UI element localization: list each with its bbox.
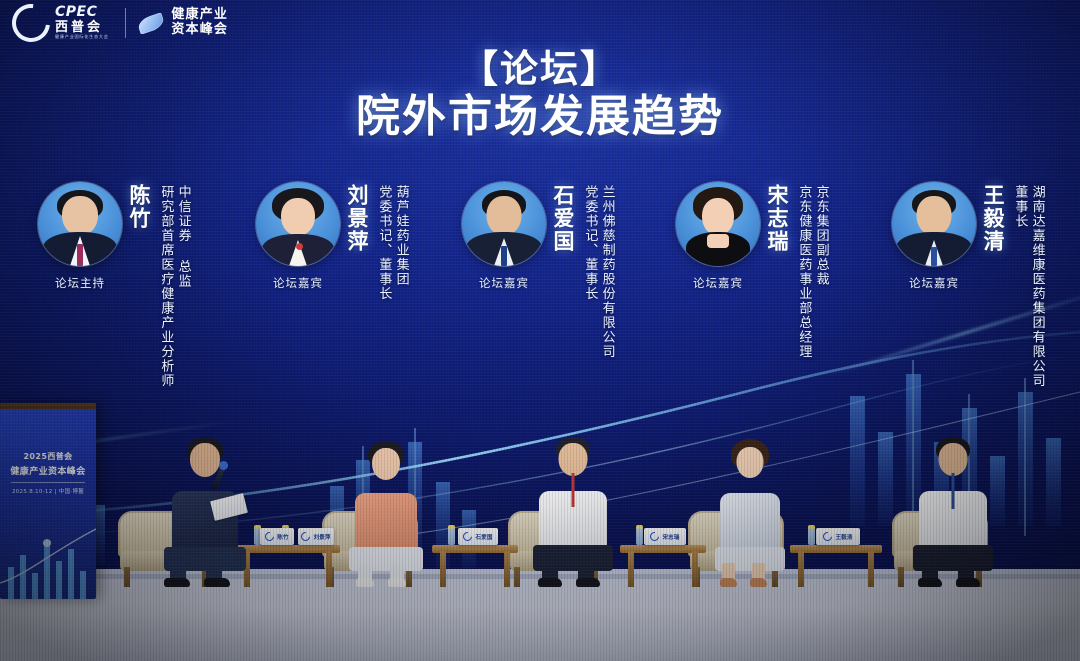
health-capital-summit-logo: 健康产业 资本峰会 xyxy=(138,8,228,37)
panelist-name: 石爱国 xyxy=(552,184,574,253)
panelist-title-line: 京东健康医药事业部总经理 xyxy=(796,185,810,359)
podium-banner-line2: 健康产业资本峰会 xyxy=(0,464,96,477)
podium-banner-line3: 2025.8.10-12 | 中国·博鳌 xyxy=(0,487,96,495)
plate-logo-icon xyxy=(822,530,835,543)
panelist-role: 论坛嘉宾 xyxy=(693,275,743,291)
panelist-name: 王毅清 xyxy=(982,184,1004,253)
cpec-chinese-text: 西普会 xyxy=(55,21,113,34)
panelist-name: 陈竹 xyxy=(128,184,150,230)
panelist-card: 论坛嘉宾 宋志瑞 京东集团副总裁 京东健康医药事业部总经理 xyxy=(672,182,828,359)
plate-logo-icon xyxy=(649,530,662,543)
seated-panelist xyxy=(336,441,436,587)
side-table: 石爱国 xyxy=(432,513,518,587)
cpec-logo: CPEC 西普会 健康产业国际化生态大会 xyxy=(0,4,113,42)
plate-logo-icon xyxy=(263,530,276,543)
panelist-title-line: 研究部首席医疗健康产业分析师 xyxy=(158,185,172,388)
panelist-title-line: 党委书记、董事长 xyxy=(582,185,596,359)
nameplate: 陈竹 xyxy=(260,528,294,545)
nameplate-text: 石爱国 xyxy=(475,533,492,541)
panelist-title-line: 中信证券 总监 xyxy=(175,185,189,388)
panelist-title-line: 湖南达嘉维康医药集团有限公司 xyxy=(1029,185,1043,388)
nameplate: 石爱国 xyxy=(458,528,498,545)
nameplate-text: 宋志瑞 xyxy=(662,533,679,541)
logo-divider xyxy=(125,8,126,38)
panelist-title-line: 葫芦娃药业集团 xyxy=(393,185,407,301)
forum-title-bracketed: 【论坛】 xyxy=(0,46,1080,92)
water-bottle xyxy=(636,525,643,545)
water-bottle xyxy=(808,525,815,545)
panelist-card: 论坛嘉宾 石爱国 兰州佛慈制药股份有限公司 党委书记、董事长 xyxy=(458,182,614,359)
conference-stage-photo: CPEC 西普会 健康产业国际化生态大会 健康产业 资本峰会 【论坛】 院外市场… xyxy=(0,0,1080,661)
side-table: 王毅清 xyxy=(790,513,882,587)
avatar xyxy=(676,182,760,266)
panelist-card: 论坛嘉宾 刘景萍 葫芦娃药业集团 党委书记、董事长 xyxy=(252,182,408,301)
plate-logo-icon xyxy=(462,530,475,543)
avatar xyxy=(892,182,976,266)
avatar xyxy=(38,182,122,266)
summit-logo-line1: 健康产业 xyxy=(171,8,228,23)
nameplate: 王毅清 xyxy=(816,528,860,545)
cpec-ring-icon xyxy=(4,0,57,50)
panelist-title-line: 兰州佛慈制药股份有限公司 xyxy=(599,185,613,359)
seated-panelist xyxy=(900,437,1006,587)
cpec-subtitle-text: 健康产业国际化生态大会 xyxy=(55,36,109,40)
seated-panelist xyxy=(700,439,800,587)
forum-title-main: 院外市场发展趋势 xyxy=(0,90,1080,144)
panelist-name: 刘景萍 xyxy=(346,184,368,253)
nameplate: 宋志瑞 xyxy=(644,528,686,545)
panelist-list: 论坛主持 陈竹 中信证券 总监 研究部首席医疗健康产业分析师 xyxy=(0,182,1080,422)
water-bottle xyxy=(448,525,455,545)
podium-chart-graphic xyxy=(0,513,96,599)
panelist-role: 论坛嘉宾 xyxy=(273,275,323,291)
seated-moderator xyxy=(150,437,260,587)
panelist-card: 论坛主持 陈竹 中信证券 总监 研究部首席医疗健康产业分析师 xyxy=(34,182,190,388)
podium-banner-line1: 2025西普会 xyxy=(0,451,96,462)
panelist-title-line: 党委书记、董事长 xyxy=(376,185,390,301)
nameplate: 刘景萍 xyxy=(298,528,334,545)
nameplate-text: 刘景萍 xyxy=(313,533,330,541)
nameplate-text: 王毅清 xyxy=(835,533,852,541)
panelist-name: 宋志瑞 xyxy=(766,184,788,253)
panelist-title-line: 京东集团副总裁 xyxy=(813,185,827,359)
panelist-role: 论坛主持 xyxy=(55,275,105,291)
avatar xyxy=(462,182,546,266)
avatar xyxy=(256,182,340,266)
panelist-role: 论坛嘉宾 xyxy=(909,275,959,291)
plate-logo-icon xyxy=(300,530,313,543)
panelist-role: 论坛嘉宾 xyxy=(479,275,529,291)
panelist-title-line: 董事长 xyxy=(1012,185,1026,388)
stage-foreground: 2025西普会 健康产业资本峰会 2025.8.10-12 | 中国·博鳌 xyxy=(0,411,1080,661)
podium-banner-rule xyxy=(11,482,85,483)
summit-logo-line2: 资本峰会 xyxy=(171,23,228,38)
cpec-latin-text: CPEC xyxy=(55,5,113,19)
nameplate-text: 陈竹 xyxy=(277,533,288,541)
seated-panelist xyxy=(520,437,626,587)
forum-title-block: 【论坛】 院外市场发展趋势 xyxy=(0,46,1080,144)
side-table: 宋志瑞 xyxy=(620,513,706,587)
podium-banner: 2025西普会 健康产业资本峰会 2025.8.10-12 | 中国·博鳌 xyxy=(0,403,96,599)
leaf-icon xyxy=(137,12,166,34)
panelist-card: 论坛嘉宾 王毅清 湖南达嘉维康医药集团有限公司 董事长 xyxy=(888,182,1044,388)
header-logo-bar: CPEC 西普会 健康产业国际化生态大会 健康产业 资本峰会 xyxy=(0,0,420,46)
